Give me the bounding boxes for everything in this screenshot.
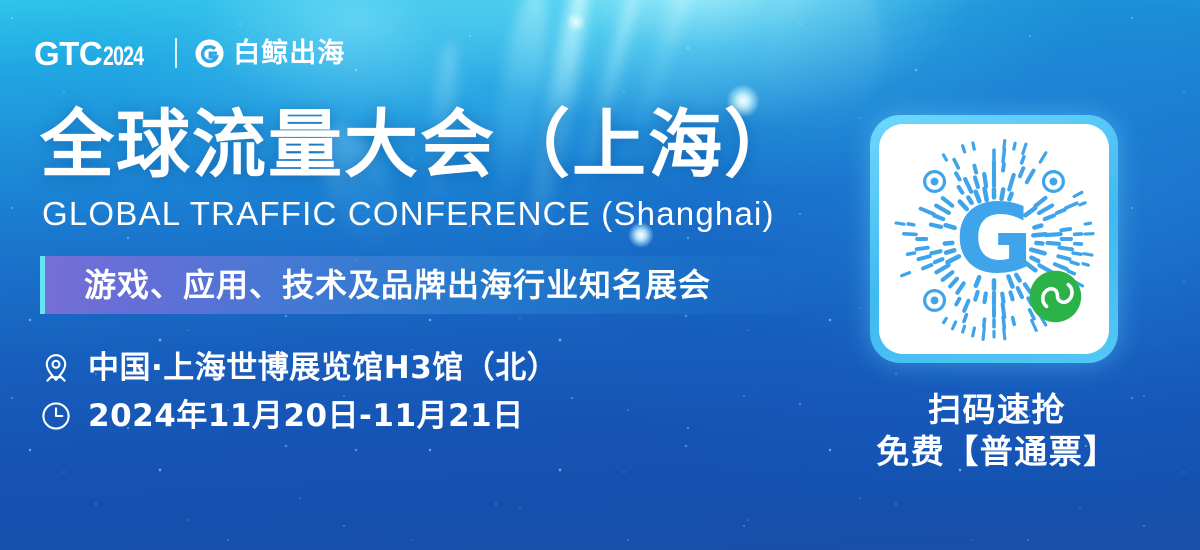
location-pin-icon xyxy=(40,352,72,384)
venue-text: 中国·上海世博展览馆H3馆（北） xyxy=(88,353,558,384)
whale-g-circle-icon xyxy=(195,39,224,68)
qr-cta-line-2: 免费【普通票】 xyxy=(870,431,1124,473)
company-name: 白鲸出海 xyxy=(233,40,345,67)
event-details-list: 中国·上海世博展览馆H3馆（北） 2024年11月20日-11月21日 xyxy=(40,352,870,432)
tagline-banner: 游戏、应用、技术及品牌出海行业知名展会 xyxy=(40,256,830,314)
gtc-event-year: 2024 xyxy=(103,43,143,70)
vertical-divider xyxy=(175,38,177,68)
tagline-text: 游戏、应用、技术及品牌出海行业知名展会 xyxy=(84,269,711,301)
wechat-miniprogram-badge-icon xyxy=(1030,271,1082,323)
event-detail-date: 2024年11月20日-11月21日 xyxy=(40,400,870,432)
qr-cta-line-1: 扫码速抢 xyxy=(870,389,1124,431)
qr-code-frame: G xyxy=(870,115,1118,363)
page-title: 全球流量大会（上海） xyxy=(40,108,870,183)
date-text: 2024年11月20日-11月21日 xyxy=(88,401,524,432)
hero-content: 全球流量大会（上海） GLOBAL TRAFFIC CONFERENCE (Sh… xyxy=(40,108,870,448)
event-detail-venue: 中国·上海世博展览馆H3馆（北） xyxy=(40,352,870,384)
gtc-conference-banner: GTC 2024 白鲸出海 全球流量大会（上海） GLOBAL TRAFFIC … xyxy=(0,0,1200,550)
qr-code-card[interactable]: G xyxy=(879,124,1109,354)
company-logo: 白鲸出海 xyxy=(195,39,345,68)
qr-code-panel: G 扫码速抢 免费【普通票】 xyxy=(870,115,1124,473)
qr-cta-text: 扫码速抢 免费【普通票】 xyxy=(870,389,1124,473)
qr-center-letter: G xyxy=(955,185,1033,295)
logo-bar: GTC 2024 白鲸出海 xyxy=(34,31,345,75)
gtc-event-logo: GTC 2024 xyxy=(34,37,159,70)
page-subtitle-english: GLOBAL TRAFFIC CONFERENCE (Shanghai) xyxy=(42,197,870,230)
wechat-miniprogram-qr-code[interactable]: G xyxy=(885,130,1103,348)
clock-icon xyxy=(40,400,72,432)
tagline-accent-bar xyxy=(40,256,45,314)
gtc-event-code: GTC xyxy=(34,37,102,70)
